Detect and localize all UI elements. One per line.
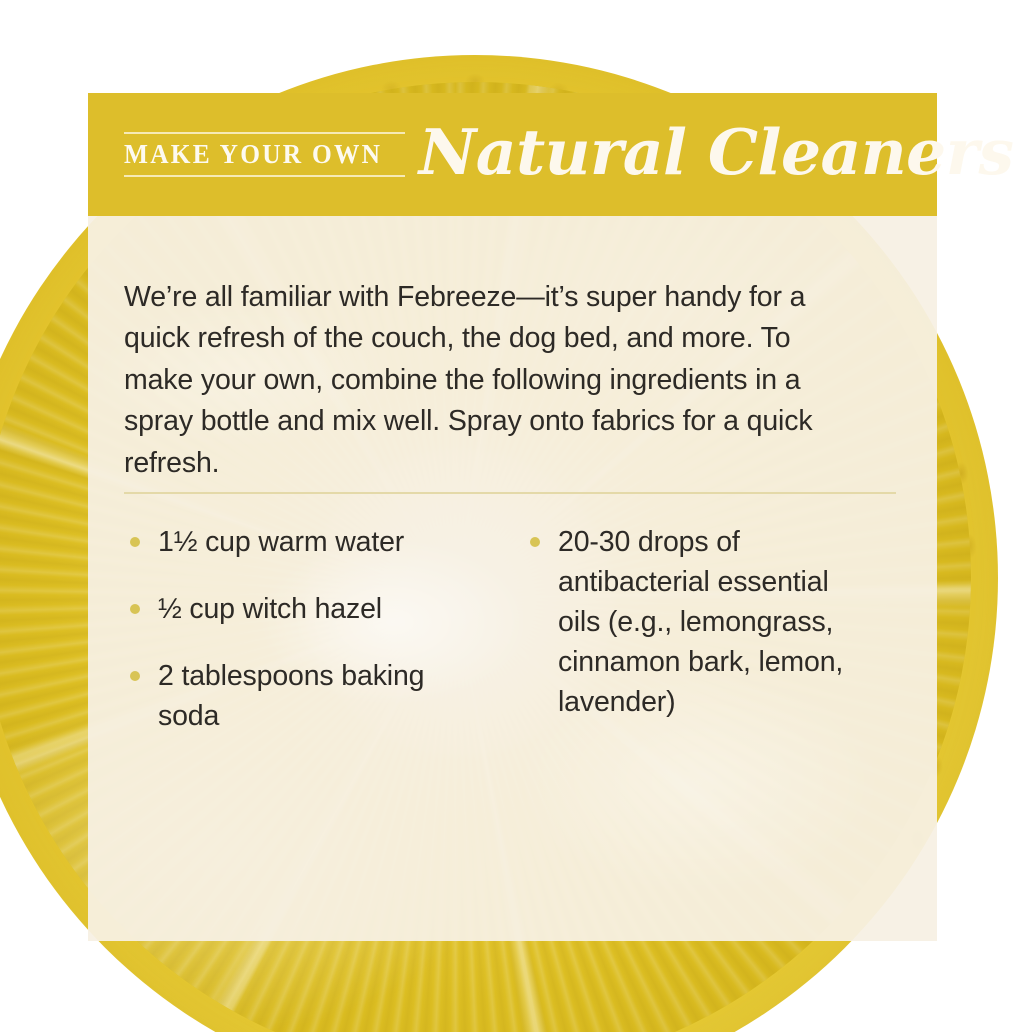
bullet-dot-icon [130, 604, 140, 614]
ingredient-list-right: 20-30 drops of antibacterial essential o… [524, 522, 870, 722]
ingredient-text: 20-30 drops of antibacterial essential o… [558, 526, 843, 718]
eyebrow-label: MAKE YOUR OWN [124, 141, 382, 168]
ingredient-list-left: 1½ cup warm water ½ cup witch hazel 2 ta… [124, 522, 466, 736]
bullet-dot-icon [130, 537, 140, 547]
ingredients-column-right: 20-30 drops of antibacterial essential o… [524, 522, 870, 736]
list-item: 2 tablespoons baking soda [124, 656, 466, 736]
ingredient-text: ½ cup witch hazel [158, 593, 382, 625]
list-item: 20-30 drops of antibacterial essential o… [524, 522, 870, 722]
recipe-card-canvas: MAKE YOUR OWN Natural Cleaners We’re all… [0, 0, 1031, 1032]
bullet-dot-icon [130, 671, 140, 681]
ingredient-text: 2 tablespoons baking soda [158, 660, 424, 732]
ingredients-columns: 1½ cup warm water ½ cup witch hazel 2 ta… [124, 522, 904, 736]
list-item: ½ cup witch hazel [124, 589, 466, 629]
eyebrow-rule-frame: MAKE YOUR OWN [124, 132, 399, 177]
header-band: MAKE YOUR OWN Natural Cleaners [88, 93, 937, 216]
bullet-dot-icon [530, 537, 540, 547]
page-title: Natural Cleaners [419, 121, 1014, 184]
ingredients-column-left: 1½ cup warm water ½ cup witch hazel 2 ta… [124, 522, 466, 736]
intro-paragraph: We’re all familiar with Febreeze—it’s su… [124, 277, 836, 485]
section-divider [124, 492, 896, 494]
content-panel: We’re all familiar with Febreeze—it’s su… [88, 216, 937, 941]
ingredient-text: 1½ cup warm water [158, 526, 404, 558]
list-item: 1½ cup warm water [124, 522, 466, 562]
